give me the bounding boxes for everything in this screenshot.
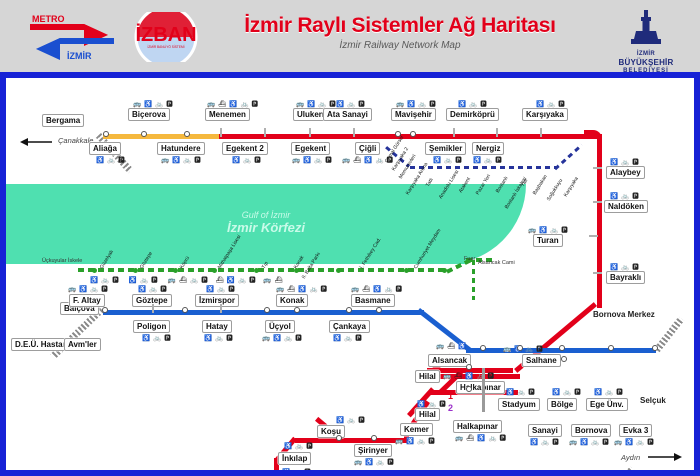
station-icons-adnan-menderes: ✈ ⛴ ♿ 🚲 🅿	[392, 469, 441, 470]
station-icons-egeunv: ♿ 🚲 🅿	[594, 386, 623, 396]
station-label-menemen[interactable]: Menemen	[205, 108, 250, 121]
station-tick-izmirspor[interactable]	[220, 304, 222, 313]
map-canvas[interactable]: Gulf of İzmir İzmir Körfezi Bergama Çana…	[6, 78, 694, 470]
station-label-inkilap[interactable]: İnkılap	[278, 452, 311, 465]
tram-station-sogukkuyu[interactable]: Soğukkuyu	[546, 178, 564, 202]
station-tick-goztepe[interactable]	[152, 304, 154, 313]
station-tick-egekent[interactable]	[353, 128, 355, 137]
station-icons-faltay: 🚌 ♿ 🚲 🅿	[68, 283, 108, 293]
station-dot-bolge[interactable]	[559, 345, 565, 351]
metro-izmir-logo: METRO İZMİR	[22, 10, 122, 62]
station-icons-menemen: 🚌 ⛴ ♿ 🚲 🅿	[207, 98, 259, 108]
station-label-bergama[interactable]: Bergama	[42, 114, 84, 127]
station-dot-aliaga[interactable]	[103, 131, 109, 137]
station-label-aydin[interactable]: Aydın	[621, 453, 640, 462]
station-dot-halkapinar-metro2[interactable]	[466, 386, 472, 392]
station-dot-kosu[interactable]	[336, 435, 342, 441]
station-dot-poligon[interactable]	[182, 307, 188, 313]
station-tick-turan[interactable]	[589, 235, 598, 237]
station-icons-evka3: 🚌 ♿ 🚲 🅿	[614, 436, 654, 446]
line-izban-north-east-vertical	[597, 134, 602, 308]
transit-map-page: METRO İZMİR İZBAN İZMİR BANLİYÖ SİSTEMİ …	[0, 0, 700, 476]
station-dot-egeunv[interactable]	[608, 345, 614, 351]
station-icons-cankaya: ♿ 🚲 🅿	[333, 332, 362, 342]
line-izban-aliaga	[103, 134, 221, 139]
station-icons-pancar: ♿ 🚲 🅿	[525, 469, 554, 470]
station-label-faltay[interactable]: F. Altay	[69, 294, 105, 307]
station-icons-alsancak: 🚌 ⛴ ♿	[436, 342, 467, 350]
tram-dot-kopru[interactable]	[173, 268, 178, 273]
station-tick-alaybey[interactable]	[593, 167, 602, 169]
station-label-halkapinar-metro[interactable]: Halkapınar	[456, 381, 505, 394]
station-dot-cigli[interactable]	[410, 131, 416, 137]
station-icons-bicerova: 🚌 ♿ 🚲 🅿	[133, 98, 173, 108]
station-label-selcuk[interactable]: Selçuk	[640, 396, 666, 405]
station-dot-stadyum[interactable]	[517, 345, 523, 351]
station-tick-naldoken[interactable]	[593, 201, 602, 203]
page-subtitle: İzmir Railway Network Map	[215, 40, 585, 51]
station-icons-egekent: 🚌 ♿ 🚲 🅿	[292, 154, 332, 164]
bornova-merkez-feeder-track	[654, 316, 684, 352]
tram-dot-konak[interactable]	[294, 268, 299, 273]
gulf-water-curve	[6, 184, 526, 264]
label-alsancak-cami[interactable]: Alsancak Cami	[478, 260, 515, 266]
tram-dot-mithatpasa[interactable]	[212, 268, 217, 273]
station-label-bolge[interactable]: Bölge	[547, 398, 577, 411]
station-label-alsancak[interactable]: Alsancak	[428, 354, 471, 367]
station-icons-hatay: ♿ 🚲 🅿	[204, 332, 233, 342]
page-header: METRO İZMİR İZBAN İZMİR BANLİYÖ SİSTEMİ …	[0, 0, 700, 72]
station-icons-torbali: ⛴ ♿ 🚲 🅿	[552, 469, 593, 470]
label-uckuyular-iskele[interactable]: Üçkuyular İskele	[42, 258, 82, 264]
map-frame: Gulf of İzmir İzmir Körfezi Bergama Çana…	[0, 72, 700, 476]
station-dot-hatundere[interactable]	[184, 131, 190, 137]
station-icons-goztepe: ♿ 🚲 🅿	[138, 283, 167, 293]
line-number-2: 2	[448, 403, 453, 413]
station-icons-basmane: 🚌 ⛴ ♿ 🚲 🅿	[351, 283, 403, 293]
station-dot-halkapinar-metro[interactable]	[466, 364, 472, 370]
tram-dot-tip[interactable]	[254, 268, 259, 273]
municipality-line2: BÜYÜKŞEHİR	[600, 58, 692, 67]
station-icons-semikler: ♿ 🚲 🅿	[433, 154, 462, 164]
tram-karsiyaka-segment-b	[410, 166, 556, 169]
municipality-logo: İZMİR BÜYÜKŞEHİR BELEDİYESİ	[600, 6, 692, 66]
metro-logo-bottom: İZMİR	[67, 51, 92, 61]
station-dot-bicerova[interactable]	[141, 131, 147, 137]
station-icons-aliaga: ♿ 🚲 🅿	[96, 154, 125, 164]
station-label-mavisehir[interactable]: Mavişehir	[391, 108, 436, 121]
station-icons-kemer: 🚌 ♿ 🚲 🅿	[395, 435, 435, 445]
station-dot-evka3[interactable]	[652, 345, 658, 351]
station-icons-halkapinar-izban: 🚌 ⛴ ♿ 🚲 🅿	[455, 432, 507, 442]
station-tick-semikler[interactable]	[453, 128, 455, 137]
station-dot-cankaya[interactable]	[346, 307, 352, 313]
station-tick-ulukent[interactable]	[309, 128, 311, 137]
tram-icons-row-konak: ♿ 🚲 🅿 ♿ 🚲 🅿 🚌 ⛴ 🚲 🅿 ⛴ ♿ 🚲 🅿 🚌 ⛴	[90, 274, 283, 284]
station-label-basmane[interactable]: Basmane	[351, 294, 395, 307]
canakkale-arrow-icon	[18, 136, 54, 151]
station-tick-menemen[interactable]	[220, 128, 222, 137]
station-tick-demirkopru[interactable]	[496, 128, 498, 137]
tram-dot-fethibey[interactable]	[404, 268, 409, 273]
transfer-corridor	[482, 368, 485, 412]
station-label-avmler[interactable]: Avm'ler	[64, 338, 101, 351]
tram-station-karsiyaka-tram[interactable]: Karşıyaka	[563, 176, 580, 198]
station-icons-egekent2: ♿ 🚲 🅿	[232, 154, 261, 164]
station-icons-izmirspor: ♿ 🚲 🅿	[206, 283, 235, 293]
station-icons-alaybey: ♿ 🚲 🅿	[610, 156, 639, 166]
station-label-turan[interactable]: Turan	[533, 234, 563, 247]
izban-logo: İZBAN İZMİR BANLİYÖ SİSTEMİ	[118, 12, 214, 62]
station-label-izmirspor[interactable]: İzmirspor	[195, 294, 239, 307]
station-label-hilal-upper[interactable]: Hilal	[415, 370, 440, 383]
station-icons-stadyum: ♿ 🚲 🅿	[506, 386, 535, 396]
station-label-stadyum[interactable]: Stadyum	[498, 398, 540, 411]
station-icons-nergiz: ♿ 🚲 🅿	[473, 154, 502, 164]
header-title-block: İzmir Raylı Sistemler Ağ Haritası İzmir …	[215, 14, 585, 51]
station-icons-inkilap: ♿ 🚲 🅿	[284, 440, 313, 450]
municipality-line1: İZMİR	[600, 51, 692, 58]
station-icons-ulukent: 🚌 ♿ 🚲 🅿	[296, 98, 336, 108]
station-dot-salhane[interactable]	[561, 356, 567, 362]
station-tick-nergiz[interactable]	[540, 128, 542, 137]
label-fuar[interactable]: Fuar	[464, 256, 475, 262]
station-icons-poligon: ♿ 🚲 🅿	[142, 332, 171, 342]
tram-dot-goztepe[interactable]	[133, 268, 138, 273]
izban-logo-text: İZBAN	[135, 23, 196, 46]
tram-dot-cumhuriyet[interactable]	[442, 268, 447, 273]
station-icons-hatundere: 🚌 ♿ 🚲 🅿	[161, 154, 201, 164]
station-icons-karsiyaka: ♿ 🚲 🅿	[536, 98, 565, 108]
station-dot-halkapinar-izban[interactable]	[480, 345, 486, 351]
station-icons-develi: ♿ 🚲 🅿	[472, 469, 501, 470]
line-corner-northeast	[584, 130, 602, 148]
station-label-karsiyaka[interactable]: Karşıyaka	[522, 108, 568, 121]
station-icons-demirkopru: ♿ 🚲 🅿	[458, 98, 487, 108]
station-dot-basmane[interactable]	[376, 307, 382, 313]
izban-logo-sub: İZMİR BANLİYÖ SİSTEMİ	[147, 44, 184, 49]
tram-station-basbakan[interactable]: Başbakan	[532, 174, 549, 196]
station-icons-gaziemir: ⛴ ♿ 🚲 🅿	[326, 469, 367, 470]
station-label-bicerova[interactable]: Biçerova	[128, 108, 170, 121]
station-label-naldoken[interactable]: Naldöken	[604, 200, 648, 213]
station-label-konak[interactable]: Konak	[276, 294, 308, 307]
station-icons-salhane: 🚌 ♿ 🚲 🅿	[503, 343, 543, 353]
station-icons-konak: 🚌 ⛴ ♿ 🚲 🅿	[276, 283, 328, 293]
station-icons-hilal: ♿ 🚲 🅿	[417, 398, 446, 408]
tram-karsiyaka-segment-c	[554, 144, 583, 170]
station-dot-faltay[interactable]	[102, 307, 108, 313]
station-label-egeunv[interactable]: Ege Ünv.	[586, 398, 628, 411]
station-label-atasanayi[interactable]: Ata Sanayi	[323, 108, 372, 121]
station-dot-ucyol[interactable]	[264, 307, 270, 313]
station-icons-sirinyer: 🚌 ♿ 🚲 🅿	[354, 456, 394, 466]
station-icons-turan: 🚌 ♿ 🚲 🅿	[528, 224, 568, 234]
station-icons-mavisehir: 🚌 ♿ 🚲 🅿	[396, 98, 436, 108]
station-icons-naldoken: ♿ 🚲 🅿	[610, 190, 639, 200]
aydin-arrow-icon	[646, 450, 684, 468]
station-icons-bolge: ♿ 🚲 🅿	[552, 386, 581, 396]
station-label-demirkopru[interactable]: Demirköprü	[446, 108, 499, 121]
station-label-alaybey[interactable]: Alaybey	[606, 166, 645, 179]
station-label-bayrakli[interactable]: Bayraklı	[606, 271, 645, 284]
metro-logo-top: METRO	[32, 14, 65, 24]
station-label-salhane[interactable]: Salhane	[522, 354, 561, 367]
station-icons-atasanayi: ♿ 🚲 🅿	[336, 98, 365, 108]
clock-tower-icon	[600, 6, 692, 46]
station-tick-bayrakli[interactable]	[593, 272, 602, 274]
station-dot-sirinyer[interactable]	[371, 435, 377, 441]
line-number-1: 1	[448, 391, 453, 401]
station-label-hilal-lower[interactable]: Hilal	[415, 408, 440, 421]
selcuk-feeder-track	[598, 466, 635, 470]
tram-dot-guzelyali[interactable]	[92, 268, 97, 273]
page-title: İzmir Raylı Sistemler Ağ Haritası	[215, 14, 585, 38]
station-icons-kosu: ♿ 🚲 🅿	[336, 414, 365, 424]
tram-dot-balta[interactable]	[336, 268, 341, 273]
station-icons-ucyol: 🚌 ♿ 🚲 🅿	[262, 332, 302, 342]
station-dot-konak[interactable]	[294, 307, 300, 313]
station-icons-semtgaraji: 🚌 ♿ 🚲 🅿	[271, 466, 311, 470]
station-icons-bayrakli: ♿ 🚲 🅿	[610, 261, 639, 271]
station-icons-halkapinar-metro: 🚌 ⛴ ♿ 🚲 🅿	[443, 370, 495, 380]
station-tick-egekent2[interactable]	[264, 128, 266, 137]
tram-konak-segment-alsancak-cami	[472, 260, 475, 300]
station-icons-bornova: 🚌 ♿ 🚲 🅿	[569, 436, 609, 446]
station-icons-sanayi-bornova: ♿ 🚲 🅿	[530, 436, 559, 446]
station-label-bornova-merkez[interactable]: Bornova Merkez	[593, 310, 655, 319]
